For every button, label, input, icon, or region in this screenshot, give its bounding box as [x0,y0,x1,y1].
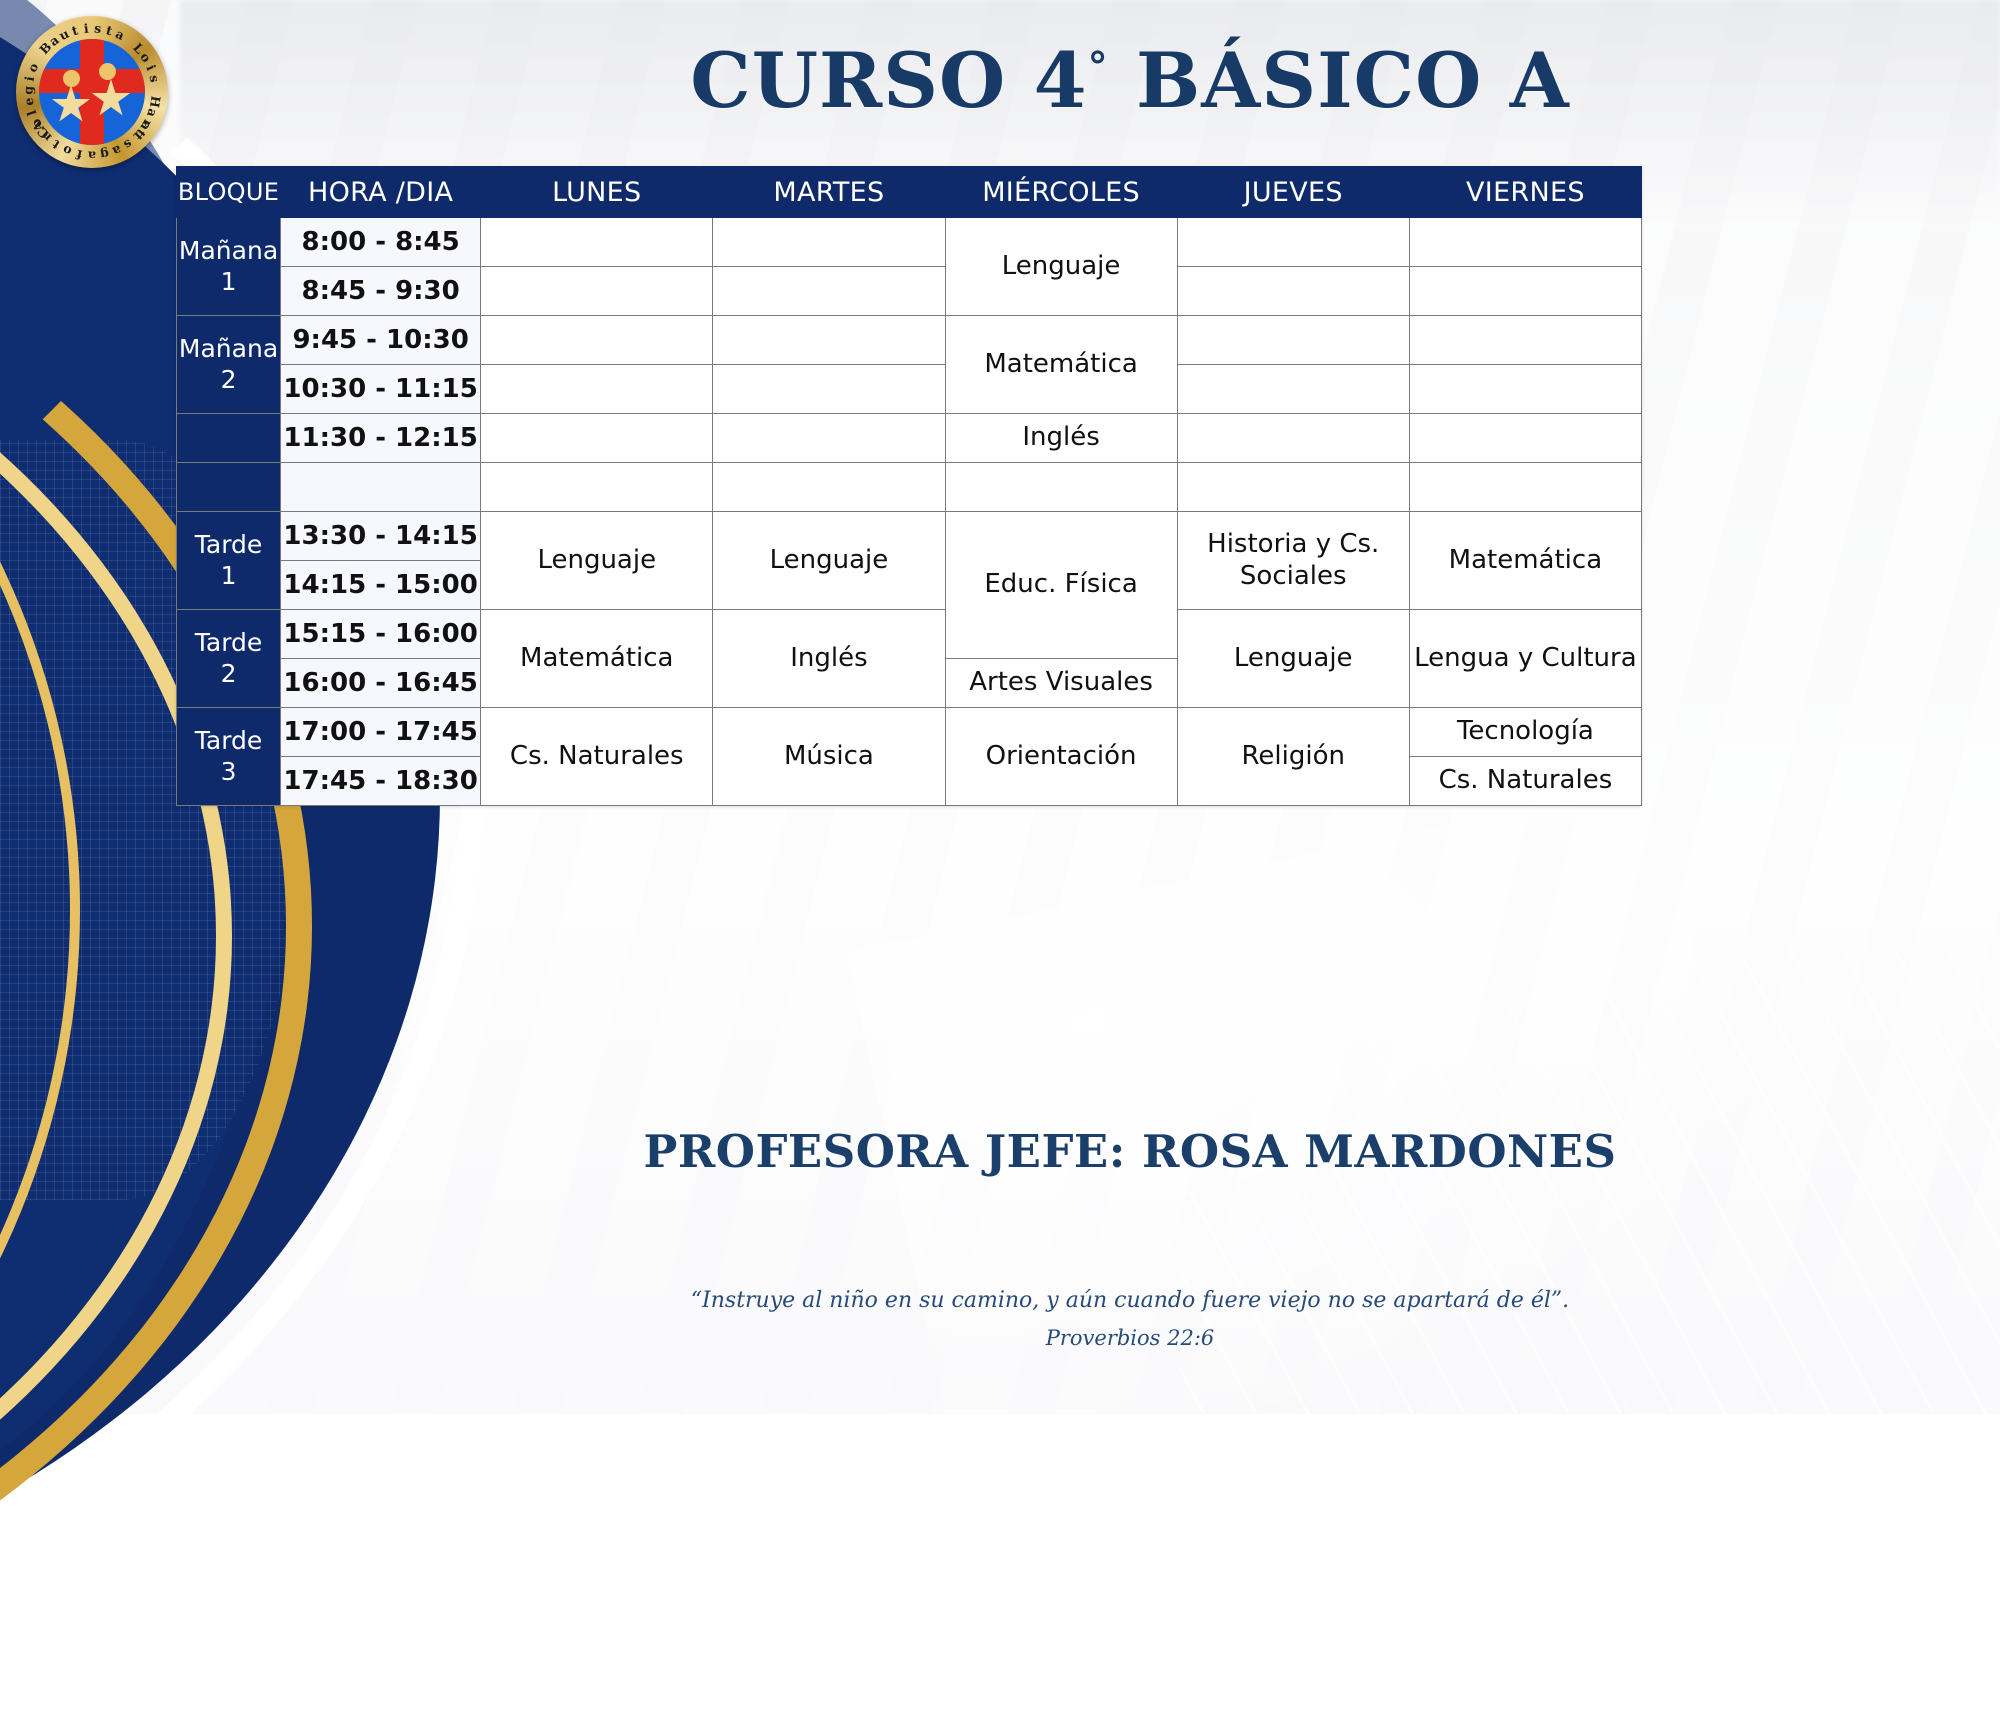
cell-miercoles-matematica[interactable]: Matemática [945,316,1177,414]
logo-ring-char [148,88,163,93]
time-cell-empty [281,463,481,512]
block-label-tarde-2: Tarde 2 [177,610,281,708]
cell-lunes-matematica[interactable]: Matemática [481,610,713,708]
block-label-manana-1: Mañana 1 [177,218,281,316]
logo-ring-char: t [70,22,80,38]
column-header-martes: MARTES [713,167,945,218]
cell-martes[interactable] [713,365,945,414]
table-row: Tarde 2 15:15 - 16:00 Matemática Inglés … [177,610,1642,659]
table-row: Mañana 1 8:00 - 8:45 Lenguaje [177,218,1642,267]
logo-ring-char: s [147,74,163,84]
cell-miercoles-lenguaje[interactable]: Lenguaje [945,218,1177,316]
cell-martes[interactable] [713,414,945,463]
cell-jueves-lenguaje[interactable]: Lenguaje [1177,610,1409,708]
block-label-tarde-3: Tarde 3 [177,708,281,806]
logo-ring-char: s [94,20,102,36]
cell-jueves[interactable] [1177,316,1409,365]
column-header-bloque: BLOQUE [177,167,281,218]
cell-miercoles[interactable] [945,463,1177,512]
cell-lunes[interactable] [481,463,713,512]
cell-martes-ingles[interactable]: Inglés [713,610,945,708]
cell-jueves[interactable] [1177,218,1409,267]
cell-viernes[interactable] [1409,365,1641,414]
block-label-line2: 1 [221,267,237,296]
column-header-viernes: VIERNES [1409,167,1641,218]
block-label-line1: Mañana [179,334,278,363]
cell-miercoles-orientacion[interactable]: Orientación [945,708,1177,806]
time-cell: 16:00 - 16:45 [281,659,481,708]
schedule-table: BLOQUE HORA /DIA LUNES MARTES MIÉRCOLES … [176,166,1642,806]
cell-lunes[interactable] [481,414,713,463]
column-header-hora: HORA /DIA [281,167,481,218]
page-title-prefix: CURSO 4 [690,36,1087,125]
cell-lunes[interactable] [481,267,713,316]
table-row: Tarde 3 17:00 - 17:45 Cs. Naturales Músi… [177,708,1642,757]
time-cell: 9:45 - 10:30 [281,316,481,365]
logo-ring-char: a [110,142,123,159]
logo-ring-char: a [113,26,127,43]
table-row: 11:30 - 12:15 Inglés [177,414,1642,463]
cell-martes-lenguaje[interactable]: Lenguaje [713,512,945,610]
cell-viernes-lengua-cultura[interactable]: Lengua y Cultura [1409,610,1641,708]
logo-ring-char: a [144,107,161,120]
cell-viernes[interactable] [1409,316,1641,365]
time-cell: 14:15 - 15:00 [281,561,481,610]
block-label-line1: Tarde [195,530,263,559]
cell-lunes[interactable] [481,365,713,414]
block-label-line1: Tarde [195,628,263,657]
page-title-suffix: BÁSICO A [1109,36,1570,125]
cell-lunes[interactable] [481,316,713,365]
logo-ring-char: e [21,97,37,107]
cell-martes[interactable] [713,267,945,316]
table-row: 8:45 - 9:30 [177,267,1642,316]
cell-martes-musica[interactable]: Música [713,708,945,806]
cell-martes[interactable] [713,463,945,512]
table-header-row: BLOQUE HORA /DIA LUNES MARTES MIÉRCOLES … [177,167,1642,218]
logo-ring-char: g [99,146,111,162]
logo-ring-char: i [143,63,159,73]
bible-verse-reference: Proverbios 22:6 [300,1326,1960,1350]
block-label-manana-2: Mañana 2 [177,316,281,414]
cell-lunes[interactable] [481,218,713,267]
time-cell: 13:30 - 14:15 [281,512,481,561]
time-cell: 15:15 - 16:00 [281,610,481,659]
logo-ring-char: f [75,147,83,163]
logo-ring-char: i [83,21,89,36]
logo-ring-char: g [20,86,35,95]
logo-ring-text: Colegio Bautista Lois HartAntofagasta [16,16,168,168]
cell-lunes-lenguaje[interactable]: Lenguaje [481,512,713,610]
cell-martes[interactable] [713,218,945,267]
bible-verse-text: “Instruye al niño en su camino, y aún cu… [300,1288,1960,1313]
time-cell: 11:30 - 12:15 [281,414,481,463]
cell-viernes[interactable] [1409,267,1641,316]
cell-miercoles-artes-visuales[interactable]: Artes Visuales [945,659,1177,708]
table-row: 10:30 - 11:15 [177,365,1642,414]
cell-viernes-tecnologia[interactable]: Tecnología [1409,708,1641,757]
logo-ring-char: i [22,75,38,83]
cell-martes[interactable] [713,316,945,365]
cell-viernes[interactable] [1409,463,1641,512]
time-cell: 8:00 - 8:45 [281,218,481,267]
block-label-line2: 1 [221,561,237,590]
head-teacher-label: PROFESORA JEFE: ROSA MARDONES [300,1125,1960,1178]
cell-viernes[interactable] [1409,414,1641,463]
cell-miercoles-educ-fisica[interactable]: Educ. Física [945,512,1177,659]
block-label-empty-2 [177,463,281,512]
page-title-degree: ° [1088,44,1109,91]
time-cell: 10:30 - 11:15 [281,365,481,414]
table-row: Tarde 1 13:30 - 14:15 Lenguaje Lenguaje … [177,512,1642,561]
column-header-lunes: LUNES [481,167,713,218]
logo-ring-char: s [121,137,135,153]
block-label-empty-1 [177,414,281,463]
cell-jueves-historia[interactable]: Historia y Cs. Sociales [1177,512,1409,610]
table-row-break [177,463,1642,512]
logo-ring-char: o [60,142,74,159]
block-label-line1: Tarde [195,726,263,755]
time-cell: 17:45 - 18:30 [281,757,481,806]
time-cell: 17:00 - 17:45 [281,708,481,757]
block-label-tarde-1: Tarde 1 [177,512,281,610]
logo-ring-char: t [49,137,62,153]
logo-ring-char: a [88,149,96,164]
time-cell: 8:45 - 9:30 [281,267,481,316]
cell-lunes-cs-naturales[interactable]: Cs. Naturales [481,708,713,806]
cell-viernes-cs-naturales[interactable]: Cs. Naturales [1409,757,1641,806]
logo-ring-char: t [104,22,114,38]
cell-viernes[interactable] [1409,218,1641,267]
table-row: Mañana 2 9:45 - 10:30 Matemática [177,316,1642,365]
logo-ring-char: o [24,61,41,74]
block-label-line1: Mañana [179,236,278,265]
cell-jueves[interactable] [1177,267,1409,316]
logo-ring-char: H [147,95,164,109]
column-header-miercoles: MIÉRCOLES [945,167,1177,218]
block-label-line2: 2 [221,659,237,688]
logo-ring-char: l [24,108,40,117]
cell-jueves[interactable] [1177,365,1409,414]
cell-viernes-matematica[interactable]: Matemática [1409,512,1641,610]
block-label-line2: 3 [221,757,237,786]
cell-miercoles-ingles[interactable]: Inglés [945,414,1177,463]
page-title: CURSO 4° BÁSICO A [300,36,1960,125]
cell-jueves[interactable] [1177,463,1409,512]
cell-jueves[interactable] [1177,414,1409,463]
column-header-jueves: JUEVES [1177,167,1409,218]
school-logo: Colegio Bautista Lois HartAntofagasta [16,16,168,168]
cell-jueves-religion[interactable]: Religión [1177,708,1409,806]
block-label-line2: 2 [221,365,237,394]
